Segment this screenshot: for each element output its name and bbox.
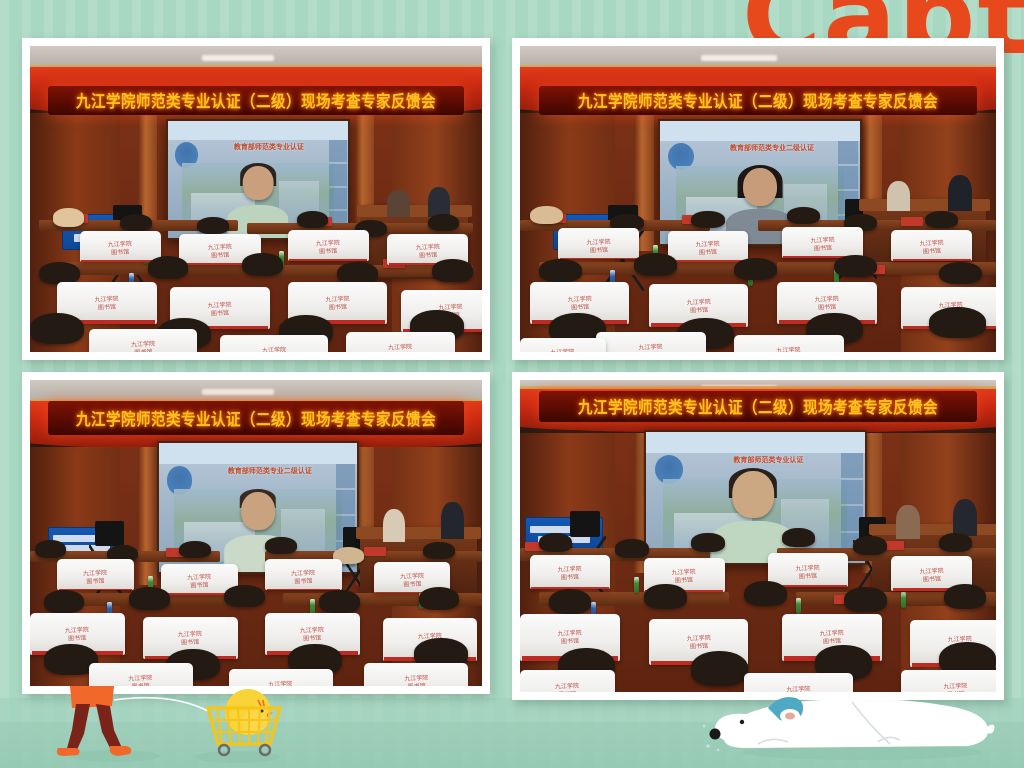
chair-cover-text: 九江学院 图书馆 (531, 681, 604, 692)
chair-cover-text: 九江学院 图书馆 (382, 571, 441, 588)
attendee-head (853, 536, 886, 555)
chair-cover: 九江学院 图书馆 (57, 559, 134, 590)
conference-scene: 九江学院师范类专业认证（二级）现场考查专家反馈会 教育部师范类专业二级认证 (30, 380, 482, 686)
bear-ear-inner (785, 713, 795, 720)
slide-toolbar (660, 121, 860, 142)
stage-attendee (383, 509, 406, 543)
attendee-head (939, 533, 972, 552)
attendee-head (549, 589, 592, 614)
slide-title-text: 教育部师范类专业认证 (698, 455, 838, 465)
chair-cover: 九江学院 图书馆 (530, 555, 611, 589)
chair-cover: 九江学院 图书馆 (891, 230, 972, 261)
audience-area: 九江学院 图书馆 九江学院 图书馆 九江学院 图书馆 九江学院 图书馆 (520, 211, 996, 352)
speaker-head (732, 471, 774, 518)
stage-presenter (948, 175, 972, 212)
chair-cover: 九江学院 图书馆 (229, 669, 333, 686)
chair-cover-text: 九江学院 图书馆 (89, 240, 151, 257)
participant-thumb (838, 141, 858, 164)
chair-base (560, 258, 638, 260)
chair-cover-text: 九江学院 图书馆 (101, 673, 181, 686)
attendee-head (432, 259, 473, 282)
attendee-head (423, 542, 455, 559)
table-nameplate (901, 217, 923, 226)
attendee-head (691, 651, 748, 685)
chair-base (669, 260, 747, 262)
chair-cover-text: 九江学院 图书馆 (397, 243, 459, 260)
attendee-head (297, 211, 329, 228)
participant-thumb (841, 480, 863, 505)
chair-cover: 九江学院 图书馆 (265, 559, 342, 590)
chair-cover: 九江学院 图书馆 (596, 332, 705, 352)
video-camera (95, 521, 123, 547)
event-banner-text: 九江学院师范类专业认证（二级）现场考查专家反馈会 (76, 406, 436, 430)
water-bottle (796, 598, 801, 614)
event-banner: 九江学院师范类专业认证（二级）现场考查专家反馈会 (539, 86, 977, 115)
photo-top-right[interactable]: 九江学院师范类专业认证（二级）现场考查专家反馈会 教育部师范类专业二级认证 (512, 38, 1004, 360)
attendee-head (224, 585, 265, 608)
attendee-head (197, 217, 229, 234)
attendee-head (929, 307, 986, 338)
event-banner-text: 九江学院师范类专业认证（二级）现场考查专家反馈会 (578, 88, 938, 112)
conference-scene: 九江学院师范类专业认证（二级）现场考查专家反馈会 教育部师范类专业认证 (520, 380, 996, 692)
chair-cover-text: 九江学院 图书馆 (359, 342, 442, 352)
water-bottle (634, 577, 639, 593)
speaker-head (241, 492, 275, 530)
chair-cover: 九江学院 图书馆 (80, 231, 161, 262)
chair-cover-text: 九江学院 图书馆 (660, 297, 737, 320)
event-banner: 九江学院师范类专业认证（二级）现场考查专家反馈会 (539, 391, 977, 422)
cart-rope (114, 698, 210, 712)
participant-thumb (329, 164, 347, 186)
chair-base (289, 259, 367, 261)
attendee-head (925, 211, 958, 228)
chick-eye (261, 710, 264, 713)
audience-area: 九江学院 图书馆 九江学院 图书馆 九江学院 图书馆 九江学院 图书馆 (30, 211, 482, 352)
attendee-head (834, 255, 877, 278)
chair-cover: 九江学院 图书馆 (89, 329, 197, 352)
chair-cover: 九江学院 图书馆 (734, 335, 843, 352)
attendee-head (530, 206, 563, 224)
chair-cover: 九江学院 图书馆 (558, 228, 639, 259)
attendee-head (744, 581, 787, 606)
event-banner-text: 九江学院师范类专业认证（二级）现场考查专家反馈会 (76, 88, 436, 112)
attendee-head (782, 528, 815, 547)
attendee-head (939, 262, 982, 285)
stage-attendee (896, 505, 920, 539)
attendee-head (539, 533, 572, 552)
photo-bottom-right[interactable]: 九江学院师范类专业认证（二级）现场考查专家反馈会 教育部师范类专业认证 (512, 372, 1004, 700)
participant-thumb (329, 188, 347, 210)
participant-thumb (336, 490, 356, 514)
attendee-head (691, 211, 724, 228)
photo-top-left[interactable]: 九江学院师范类专业认证（二级）现场考查专家反馈会 教育部师范类专业认证 (22, 38, 490, 360)
conference-scene: 九江学院师范类专业认证（二级）现场考查专家反馈会 教育部师范类专业二级认证 (520, 46, 996, 352)
chair-cover-text: 九江学院 图书馆 (901, 566, 963, 584)
chair-cover: 九江学院 图书馆 (520, 670, 615, 692)
walker-shoe-back (57, 748, 80, 756)
attendee-head (35, 540, 67, 558)
participant-thumb (329, 140, 347, 162)
conference-scene: 九江学院师范类专业认证（二级）现场考查专家反馈会 教育部师范类专业认证 (30, 46, 482, 352)
chair-cover: 九江学院 图书馆 (768, 553, 849, 587)
chair-cover-text: 九江学院 图书馆 (189, 243, 251, 260)
chair-base (893, 259, 971, 261)
attendee-head (428, 214, 460, 231)
video-camera (570, 511, 600, 537)
chair-cover: 九江学院 图书馆 (89, 663, 193, 686)
attendee-head (844, 587, 887, 612)
slide-toolbar (646, 432, 865, 454)
participant-thumb (336, 464, 356, 488)
stage-attendee (887, 181, 911, 212)
stage-presenter (441, 502, 464, 539)
chair-cover-text: 九江学院 图书馆 (241, 679, 321, 686)
slide-toolbar (159, 443, 358, 465)
event-banner-text: 九江学院师范类专业认证（二级）现场考查专家反馈会 (578, 394, 938, 418)
event-banner: 九江学院师范类专业认证（二级）现场考查专家反馈会 (48, 401, 464, 435)
attendee-head (787, 207, 820, 224)
chair-cover-text: 九江学院 图书馆 (66, 568, 125, 585)
attendee-head (265, 537, 297, 554)
chair-cover-text: 九江学院 图书馆 (170, 573, 229, 590)
chair-cover-text: 九江学院 图书馆 (901, 238, 963, 255)
chair-cover-text: 九江学院 图书馆 (539, 565, 601, 583)
chair-cover-text: 九江学院 图书馆 (777, 563, 839, 581)
attendee-head (30, 313, 84, 344)
event-banner: 九江学院师范类专业认证（二级）现场考查专家反馈会 (48, 86, 464, 115)
table-nameplate (364, 547, 386, 556)
speaker-head (243, 166, 274, 200)
chair-cover-text: 九江学院 图书馆 (677, 240, 739, 257)
water-bottle (901, 592, 906, 608)
decoration-person-pulling-cart (52, 686, 302, 766)
chair-cover-text: 九江学院 图书馆 (299, 294, 375, 316)
chair-cover-text: 九江学院 图书馆 (233, 344, 316, 352)
attendee-head (419, 587, 460, 610)
participant-thumb (841, 453, 863, 478)
chair-cover-text: 九江学院 图书馆 (297, 238, 359, 255)
chair-cover-text: 九江学院 图书馆 (101, 339, 184, 352)
chair-cover: 九江学院 图书馆 (220, 335, 328, 352)
attendee-head (734, 258, 777, 281)
attendee-head (319, 590, 360, 613)
attendee-head (179, 541, 211, 558)
walker-back-leg (66, 704, 90, 752)
walker-front-leg (96, 704, 122, 752)
chair-cover: 九江学院 图书馆 (520, 338, 606, 352)
audience-area: 九江学院 图书馆 九江学院 图书馆 九江学院 图书馆 九江学院 图书馆 (520, 536, 996, 692)
attendee-head (129, 587, 170, 610)
chair-cover: 九江学院 图书馆 (346, 332, 454, 352)
chair-cover: 九江学院 图书馆 (782, 227, 863, 258)
attendee-head (242, 253, 283, 276)
chair-cover-text: 九江学院 图书馆 (274, 568, 333, 585)
attendee-head (634, 253, 677, 276)
chair-cover-text: 九江学院 图书馆 (609, 342, 693, 352)
chair-cover-text: 九江学院 图书馆 (791, 236, 853, 253)
bear-nose (710, 729, 721, 740)
audience-area: 九江学院 图书馆 九江学院 图书馆 九江学院 图书馆 九江学院 图书馆 (30, 545, 482, 686)
chair-cover: 九江学院 图书馆 (364, 663, 468, 686)
cart-shadow (195, 751, 279, 763)
decoration-polar-bear (702, 684, 1002, 764)
attendee-head (944, 584, 987, 609)
chair-cover-text: 九江学院 图书馆 (377, 673, 457, 686)
attendee-head (53, 208, 85, 226)
attendee-head (148, 256, 189, 279)
speaker-head (743, 168, 777, 206)
chair-cover: 九江学院 图书馆 (288, 230, 369, 261)
chair-cover-text: 九江学院 图书馆 (567, 237, 629, 254)
stage-presenter (953, 499, 977, 536)
chair-base (81, 260, 159, 262)
attendee-head (644, 584, 687, 609)
chair-cover-text: 九江学院 图书馆 (530, 348, 596, 352)
slide-canvas: Capture 九江学院师范类专业认证（二级）现场考查专家反馈会 教育部师范 (0, 0, 1024, 768)
chair-cover: 九江学院 图书馆 (668, 231, 749, 262)
photo-bottom-left[interactable]: 九江学院师范类专业认证（二级）现场考查专家反馈会 教育部师范类专业二级认证 (22, 372, 490, 694)
slide-toolbar (168, 121, 349, 141)
slide-title-text: 教育部师范类专业认证 (211, 142, 327, 152)
chair-cover-text: 九江学院 图书馆 (69, 294, 145, 316)
chair-cover-text: 九江学院 图书馆 (747, 344, 831, 352)
attendee-head (615, 539, 648, 558)
attendee-head (539, 259, 582, 282)
slide-title-text: 教育部师范类专业二级认证 (708, 143, 836, 153)
attendee-head (691, 533, 724, 552)
attendee-head (120, 214, 152, 231)
attendee-head (44, 590, 85, 613)
bear-eye (740, 720, 744, 724)
slide-title-text: 教育部师范类专业二级认证 (206, 466, 333, 476)
participant-thumb (838, 166, 858, 189)
